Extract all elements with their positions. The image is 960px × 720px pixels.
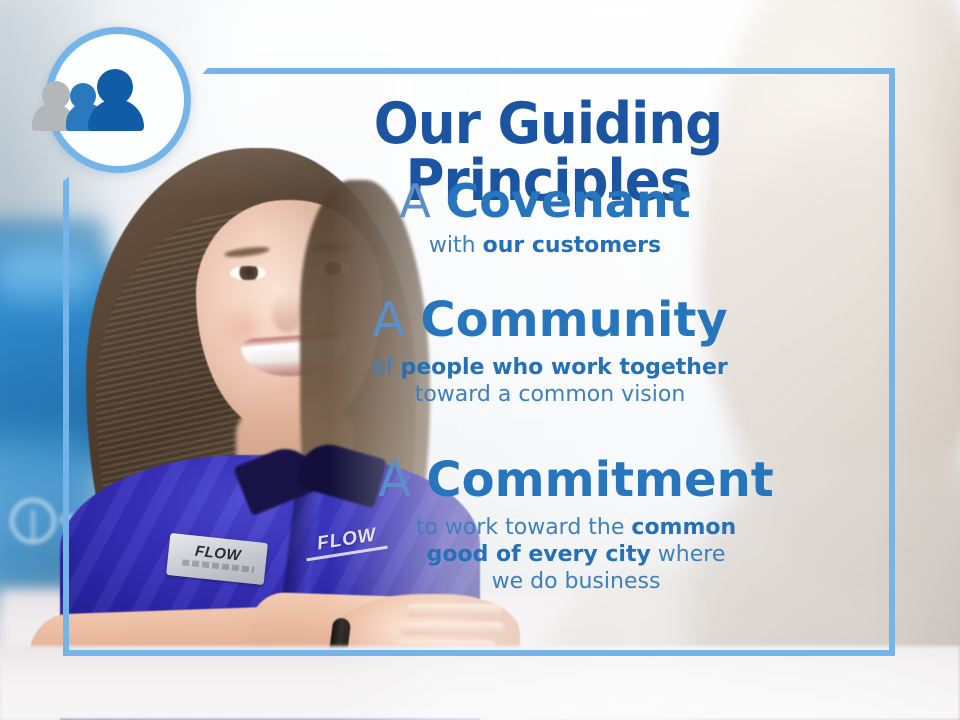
community-sub-a: of: [372, 355, 400, 380]
commitment-sub-d: where: [651, 542, 726, 567]
community-keyword: Community: [420, 292, 727, 348]
principle-commitment: A Commitment to work toward the common g…: [280, 456, 872, 595]
covenant-article: A: [399, 174, 430, 228]
principle-commitment-subtitle: to work toward the common good of every …: [280, 515, 872, 595]
principle-community: A Community of people who work together …: [250, 296, 850, 409]
text-content: Our Guiding Principles A Covenant with o…: [0, 0, 960, 720]
covenant-sub-b: our customers: [483, 233, 662, 258]
principle-community-heading: A Community: [250, 296, 850, 346]
principle-community-subtitle: of people who work together toward a com…: [250, 355, 850, 409]
principle-covenant-heading: A Covenant: [240, 178, 850, 226]
principle-commitment-heading: A Commitment: [280, 456, 872, 506]
principle-covenant-subtitle: with our customers: [240, 233, 850, 260]
guiding-principles-graphic: FLOW FLOW: [0, 0, 960, 720]
community-sub-b: people who work together: [400, 355, 727, 380]
commitment-sub-a: to work toward the: [416, 515, 632, 540]
commitment-sub-c: good of every city: [427, 542, 651, 567]
covenant-keyword: Covenant: [446, 174, 691, 228]
commitment-article: A: [378, 452, 411, 508]
principle-covenant: A Covenant with our customers: [240, 178, 850, 260]
commitment-sub-b: common: [631, 515, 736, 540]
community-sub-c: toward a common vision: [415, 382, 686, 407]
community-article: A: [372, 292, 405, 348]
commitment-keyword: Commitment: [426, 452, 773, 508]
covenant-sub-a: with: [429, 233, 483, 258]
commitment-sub-e: we do business: [492, 569, 661, 594]
